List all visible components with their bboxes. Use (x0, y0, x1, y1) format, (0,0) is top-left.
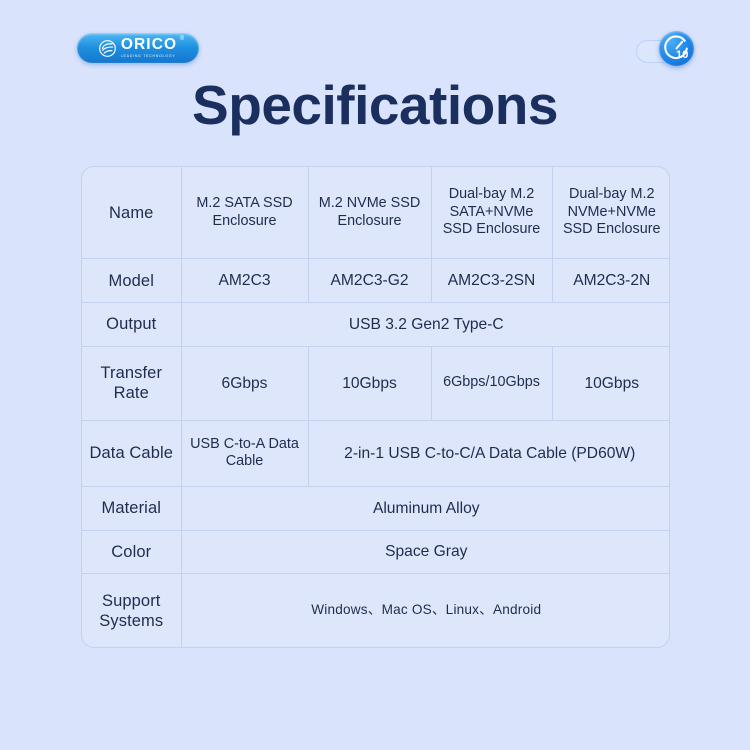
row-label-model: Model (82, 259, 181, 303)
cell-name-2: M.2 NVMe SSD Enclosure (308, 167, 431, 259)
cell-name-1: M.2 SATA SSD Enclosure (181, 167, 308, 259)
page-title: Specifications (0, 77, 750, 135)
table-row: Color Space Gray (82, 530, 670, 574)
orico-logo[interactable]: ORICO ® LEADING TECHNOLOGY (77, 33, 199, 63)
cell-transfer-1: 6Gbps (181, 346, 308, 420)
registered-trademark-icon: ® (180, 36, 184, 42)
row-label-transfer-rate: Transfer Rate (82, 346, 181, 420)
specifications-table: Name M.2 SATA SSD Enclosure M.2 NVMe SSD… (81, 166, 670, 648)
cell-output-merged: USB 3.2 Gen2 Type-C (181, 303, 670, 347)
cell-name-4: Dual-bay M.2 NVMe+NVMe SSD Enclosure (552, 167, 670, 259)
cell-material-merged: Aluminum Alloy (181, 486, 670, 530)
row-label-support-systems: Support Systems (82, 574, 181, 647)
cell-data-cable-merged: 2-in-1 USB C-to-C/A Data Cable (PD60W) (308, 420, 670, 486)
row-label-output: Output (82, 303, 181, 347)
table-row: Material Aluminum Alloy (82, 486, 670, 530)
table-row: Support Systems Windows、Mac OS、Linux、And… (82, 574, 670, 647)
orico-swirl-icon (99, 40, 116, 57)
orico-tagline: LEADING TECHNOLOGY (121, 55, 175, 59)
orico-wordmark: ORICO (121, 37, 177, 53)
speed-badge: 10 (636, 31, 694, 71)
orico-logo-text: ORICO ® LEADING TECHNOLOGY (121, 37, 177, 58)
row-label-data-cable: Data Cable (82, 420, 181, 486)
cell-name-3: Dual-bay M.2 SATA+NVMe SSD Enclosure (431, 167, 552, 259)
table-row: Output USB 3.2 Gen2 Type-C (82, 303, 670, 347)
row-label-color: Color (82, 530, 181, 574)
table-row: Transfer Rate 6Gbps 10Gbps 6Gbps/10Gbps … (82, 346, 670, 420)
cell-model-3: AM2C3-2SN (431, 259, 552, 303)
table-row: Name M.2 SATA SSD Enclosure M.2 NVMe SSD… (82, 167, 670, 259)
cell-transfer-4: 10Gbps (552, 346, 670, 420)
cell-transfer-3: 6Gbps/10Gbps (431, 346, 552, 420)
row-label-material: Material (82, 486, 181, 530)
speed-badge-circle: 10 (659, 31, 694, 66)
table-row: Model AM2C3 AM2C3-G2 AM2C3-2SN AM2C3-2N (82, 259, 670, 303)
table-row: Data Cable USB C-to-A Data Cable 2-in-1 … (82, 420, 670, 486)
cell-data-cable-1: USB C-to-A Data Cable (181, 420, 308, 486)
cell-model-4: AM2C3-2N (552, 259, 670, 303)
cell-model-2: AM2C3-G2 (308, 259, 431, 303)
cell-transfer-2: 10Gbps (308, 346, 431, 420)
cell-color-merged: Space Gray (181, 530, 670, 574)
svg-text:10: 10 (676, 49, 689, 61)
cell-model-1: AM2C3 (181, 259, 308, 303)
row-label-name: Name (82, 167, 181, 259)
cell-support-systems-merged: Windows、Mac OS、Linux、Android (181, 574, 670, 647)
